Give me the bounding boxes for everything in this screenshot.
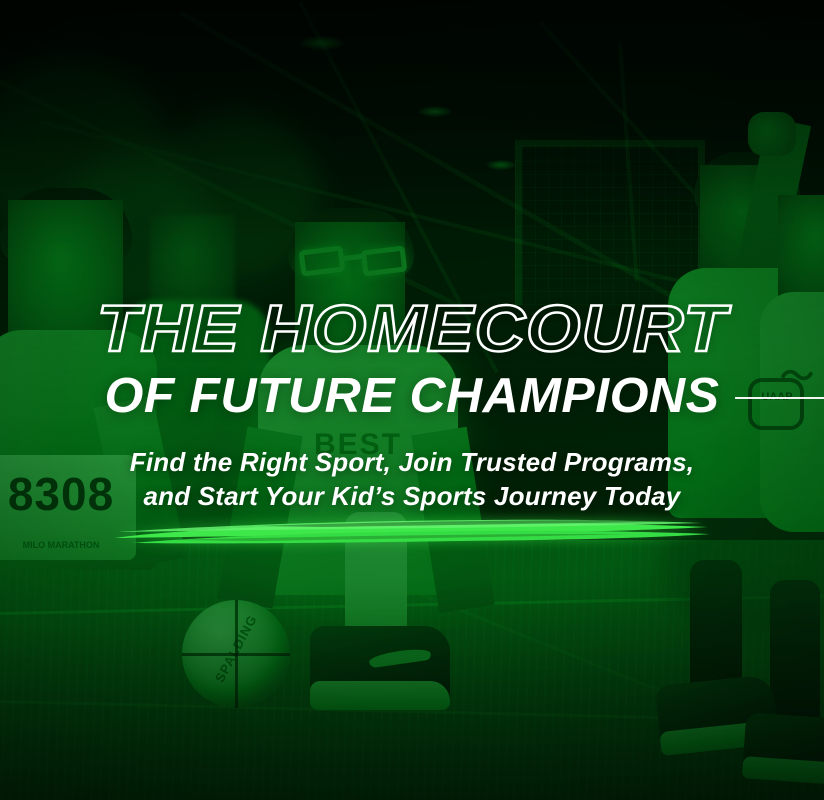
- hero-subtitle: Find the Right Sport, Join Trusted Progr…: [0, 445, 824, 514]
- headline-rule: [735, 397, 824, 399]
- brush-underline: [112, 512, 712, 552]
- subtitle-line-1: Find the Right Sport, Join Trusted Progr…: [130, 447, 694, 477]
- subtitle-line-2: and Start Your Kid’s Sports Journey Toda…: [0, 479, 824, 513]
- headline-line-2: OF FUTURE CHAMPIONS: [0, 372, 824, 421]
- hero-banner: 8308 MILO MARATHON BEST 〜 UAAP: [0, 0, 824, 800]
- headline-line-1: THE HOMECOURT: [0, 295, 824, 361]
- hero-content: THE HOMECOURT OF FUTURE CHAMPIONS Find t…: [0, 0, 824, 800]
